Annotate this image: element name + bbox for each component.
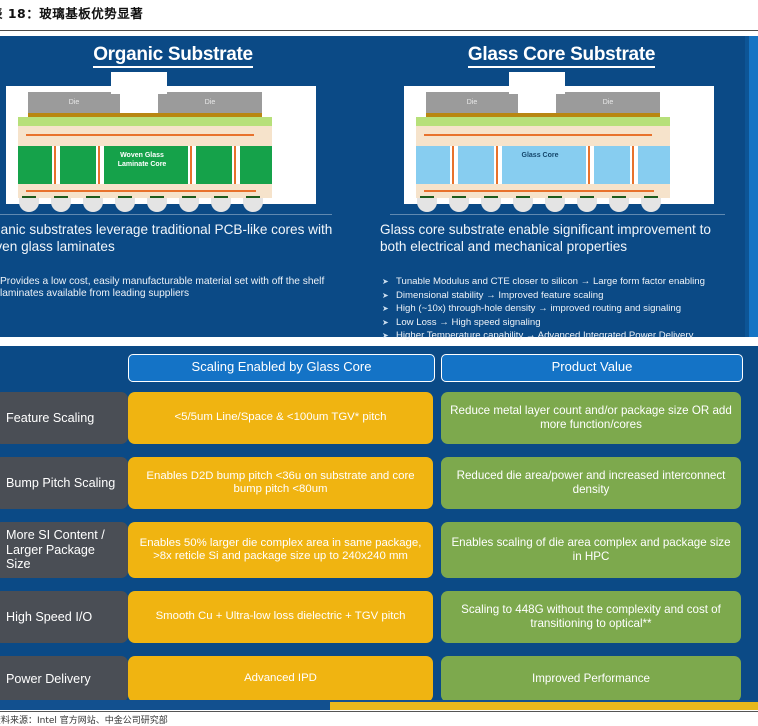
organic-substrate-heading: Organic Substrate (0, 44, 368, 66)
die-right-label: Die (556, 92, 660, 113)
table-row: Feature Scaling <5/5um Line/Space & <100… (0, 392, 758, 444)
diagram-notch (509, 72, 565, 94)
substrate-comparison-panel: Organic Substrate Die Die Woven GlassLam (0, 36, 758, 337)
row-category: Power Delivery (0, 656, 128, 702)
organic-substrate-description: Organic substrates leverage traditional … (0, 221, 368, 255)
list-item: Provides a low cost, easily manufacturab… (0, 276, 342, 301)
footer-banner (0, 700, 758, 710)
row-scaling: Advanced IPD (128, 656, 433, 702)
solder-resist-layer (416, 117, 670, 126)
row-value: Scaling to 448G without the complexity a… (441, 591, 741, 643)
footer-divider (0, 711, 758, 712)
table-row: High Speed I/O Smooth Cu + Ultra-low los… (0, 591, 758, 643)
core-label: Glass Core (492, 152, 588, 161)
diagram-notch (111, 72, 167, 94)
row-category: Feature Scaling (0, 392, 128, 444)
header-product-value: Product Value (441, 354, 743, 382)
header-scaling-enabled: Scaling Enabled by Glass Core (128, 354, 435, 382)
column-divider (0, 214, 332, 215)
table-row: More SI Content / Larger Package Size En… (0, 522, 758, 578)
glass-core-substrate-column: Glass Core Substrate Die Die Glass Core (374, 36, 749, 337)
row-category: High Speed I/O (0, 591, 128, 643)
glass-core-substrate-diagram: Die Die Glass Core (404, 86, 714, 204)
footer-banner-accent (330, 702, 758, 710)
row-value: Reduced die area/power and increased int… (441, 457, 741, 509)
core-label: Woven GlassLaminate Core (94, 152, 190, 169)
row-category: More SI Content / Larger Package Size (0, 522, 128, 578)
scaling-value-matrix: Scaling Enabled by Glass Core Product Va… (0, 346, 758, 706)
row-scaling: Enables D2D bump pitch <36u on substrate… (128, 457, 433, 509)
organic-substrate-diagram: Die Die Woven GlassLaminate Core (6, 86, 316, 204)
row-value: Reduce metal layer count and/or package … (441, 392, 741, 444)
column-divider (390, 214, 725, 215)
list-item: Low Loss → High speed signaling (380, 317, 739, 329)
glass-core-substrate-description: Glass core substrate enable significant … (374, 221, 749, 255)
die-right-label: Die (158, 92, 262, 113)
solder-ball-row (18, 196, 272, 210)
row-scaling: <5/5um Line/Space & <100um TGV* pitch (128, 392, 433, 444)
die-left-label: Die (28, 92, 120, 113)
row-value: Improved Performance (441, 656, 741, 702)
panel-accent-stripe (749, 36, 758, 337)
die-left-label: Die (426, 92, 518, 113)
glass-core-substrate-heading: Glass Core Substrate (374, 44, 749, 66)
row-category: Bump Pitch Scaling (0, 457, 128, 509)
page-title: 表 18：玻璃基板优势显著 (0, 3, 758, 22)
solder-resist-layer (18, 117, 272, 126)
row-scaling: Smooth Cu + Ultra-low loss dielectric + … (128, 591, 433, 643)
table-row: Power Delivery Advanced IPD Improved Per… (0, 656, 758, 702)
list-item: High (~10x) through-hole density → impro… (380, 303, 739, 315)
list-item: Dimensional stability → Improved feature… (380, 290, 739, 302)
solder-ball-row (416, 196, 670, 210)
buildup-layer-top (18, 126, 272, 146)
matrix-header-row: Scaling Enabled by Glass Core Product Va… (0, 354, 758, 380)
list-item: Higher Temperature capability → Advanced… (380, 330, 739, 342)
list-item: Tunable Modulus and CTE closer to silico… (380, 276, 739, 288)
organic-substrate-column: Organic Substrate Die Die Woven GlassLam (0, 36, 368, 337)
source-note: 资料来源：Intel 官方网站、中金公司研究部 (0, 713, 758, 726)
table-row: Bump Pitch Scaling Enables D2D bump pitc… (0, 457, 758, 509)
row-scaling: Enables 50% larger die complex area in s… (128, 522, 433, 578)
title-divider (0, 30, 758, 31)
row-value: Enables scaling of die area complex and … (441, 522, 741, 578)
buildup-layer-top (416, 126, 670, 146)
glass-core-substrate-bullets: Tunable Modulus and CTE closer to silico… (374, 276, 749, 344)
organic-substrate-bullets: Provides a low cost, easily manufacturab… (0, 276, 368, 303)
